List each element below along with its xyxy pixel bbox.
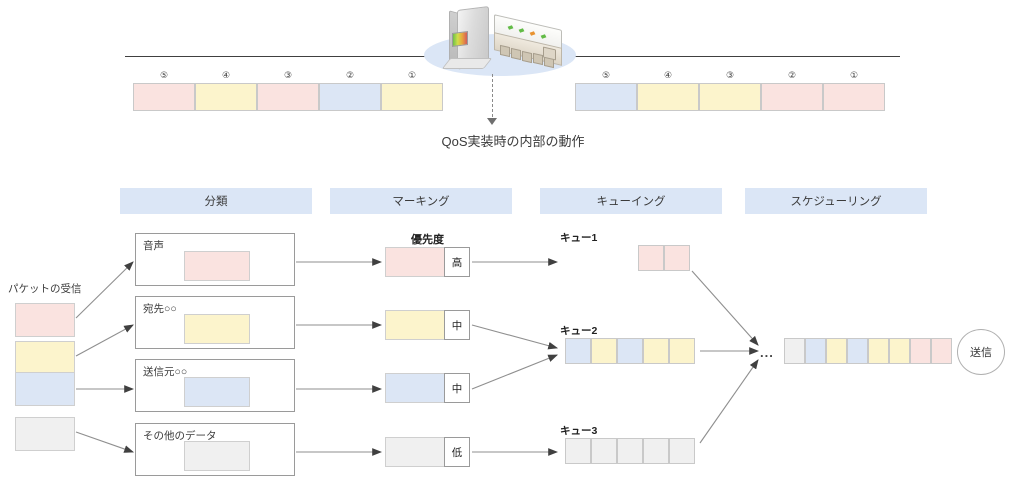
classification-label: 音声 xyxy=(143,238,164,253)
classification-swatch xyxy=(184,314,250,344)
priority-badge: 中 xyxy=(444,310,470,340)
input-packet xyxy=(15,372,75,406)
marking-swatch xyxy=(385,437,445,467)
priority-header-label: 優先度 xyxy=(385,231,470,247)
incoming-packet-queue xyxy=(133,83,443,111)
marking-row-2: 中 xyxy=(385,373,470,403)
switch-port-icon xyxy=(522,51,532,63)
marking-row-3: 低 xyxy=(385,437,470,467)
classification-swatch xyxy=(184,251,250,281)
packet-cell xyxy=(761,83,823,111)
queue-cell xyxy=(643,338,669,364)
classification-box-3: その他のデータ xyxy=(135,423,295,476)
queue-cell xyxy=(638,245,664,271)
switch-port-icon xyxy=(533,53,543,65)
marking-swatch xyxy=(385,247,445,277)
classification-label: 送信元○○ xyxy=(143,364,187,379)
queue-cell xyxy=(669,338,695,364)
packet-order-number: ④ xyxy=(659,70,677,81)
classification-swatch xyxy=(184,377,250,407)
output-packet-cell xyxy=(805,338,826,364)
packet-order-number: ③ xyxy=(721,70,739,81)
output-packet-cell xyxy=(868,338,889,364)
switch-port-icon xyxy=(500,45,510,57)
input-packet xyxy=(15,341,75,375)
packet-cell xyxy=(699,83,761,111)
packet-order-number: ⑤ xyxy=(155,70,173,81)
classification-label: 宛先○○ xyxy=(143,301,177,316)
priority-badge: 低 xyxy=(444,437,470,467)
qos-flow-dashed-line xyxy=(492,74,493,122)
queue-cell xyxy=(565,338,591,364)
qos-flow-arrowhead-icon xyxy=(487,118,497,125)
stage-header-0: 分類 xyxy=(120,188,312,214)
packet-cell xyxy=(257,83,319,111)
queue-cell xyxy=(617,438,643,464)
packet-order-number: ① xyxy=(403,70,421,81)
queue-label-1: キュー2 xyxy=(560,323,597,338)
output-packet-cell xyxy=(931,338,952,364)
packet-cell xyxy=(133,83,195,111)
marking-swatch xyxy=(385,310,445,340)
packet-order-number: ② xyxy=(783,70,801,81)
output-packet-cell xyxy=(889,338,910,364)
packet-order-number: ② xyxy=(341,70,359,81)
packet-cell xyxy=(195,83,257,111)
queue-cell xyxy=(669,438,695,464)
packet-cell xyxy=(637,83,699,111)
queue-row-0 xyxy=(638,245,690,271)
packet-cell xyxy=(575,83,637,111)
qos-caption: QoS実装時の内部の動作 xyxy=(393,131,633,150)
packet-cell xyxy=(319,83,381,111)
input-packet xyxy=(15,417,75,451)
stage-header-1: マーキング xyxy=(330,188,512,214)
router-led-strip xyxy=(452,31,468,47)
outgoing-packet-queue xyxy=(575,83,885,111)
queue-cell xyxy=(617,338,643,364)
classification-box-2: 送信元○○ xyxy=(135,359,295,412)
switch-port-icon xyxy=(511,48,521,60)
packet-order-number: ⑤ xyxy=(597,70,615,81)
packet-order-number: ④ xyxy=(217,70,235,81)
queue-cell xyxy=(591,438,617,464)
output-packet-cell xyxy=(784,338,805,364)
packet-order-number: ① xyxy=(845,70,863,81)
classification-swatch xyxy=(184,441,250,471)
classification-box-1: 宛先○○ xyxy=(135,296,295,349)
queue-cell xyxy=(664,245,690,271)
packet-cell xyxy=(381,83,443,111)
packet-cell xyxy=(823,83,885,111)
queue-label-0: キュー1 xyxy=(560,230,597,245)
scheduler-output-queue xyxy=(784,338,952,364)
marking-row-0: 高 xyxy=(385,247,470,277)
output-packet-cell xyxy=(826,338,847,364)
packet-order-number: ③ xyxy=(279,70,297,81)
stage-header-2: キューイング xyxy=(540,188,722,214)
priority-badge: 高 xyxy=(444,247,470,277)
queue-cell xyxy=(643,438,669,464)
router-stand xyxy=(442,58,493,69)
priority-badge: 中 xyxy=(444,373,470,403)
send-node: 送信 xyxy=(957,329,1005,375)
queue-row-1 xyxy=(565,338,695,364)
scheduler-ellipsis: ... xyxy=(760,345,774,360)
stage-header-3: スケジューリング xyxy=(745,188,927,214)
output-packet-cell xyxy=(847,338,868,364)
marking-swatch xyxy=(385,373,445,403)
input-packet xyxy=(15,303,75,337)
queue-cell xyxy=(565,438,591,464)
queue-row-2 xyxy=(565,438,695,464)
classification-box-0: 音声 xyxy=(135,233,295,286)
queue-label-2: キュー3 xyxy=(560,423,597,438)
queue-cell xyxy=(591,338,617,364)
packet-receive-label: パケットの受信 xyxy=(8,281,82,296)
marking-row-1: 中 xyxy=(385,310,470,340)
output-packet-cell xyxy=(910,338,931,364)
